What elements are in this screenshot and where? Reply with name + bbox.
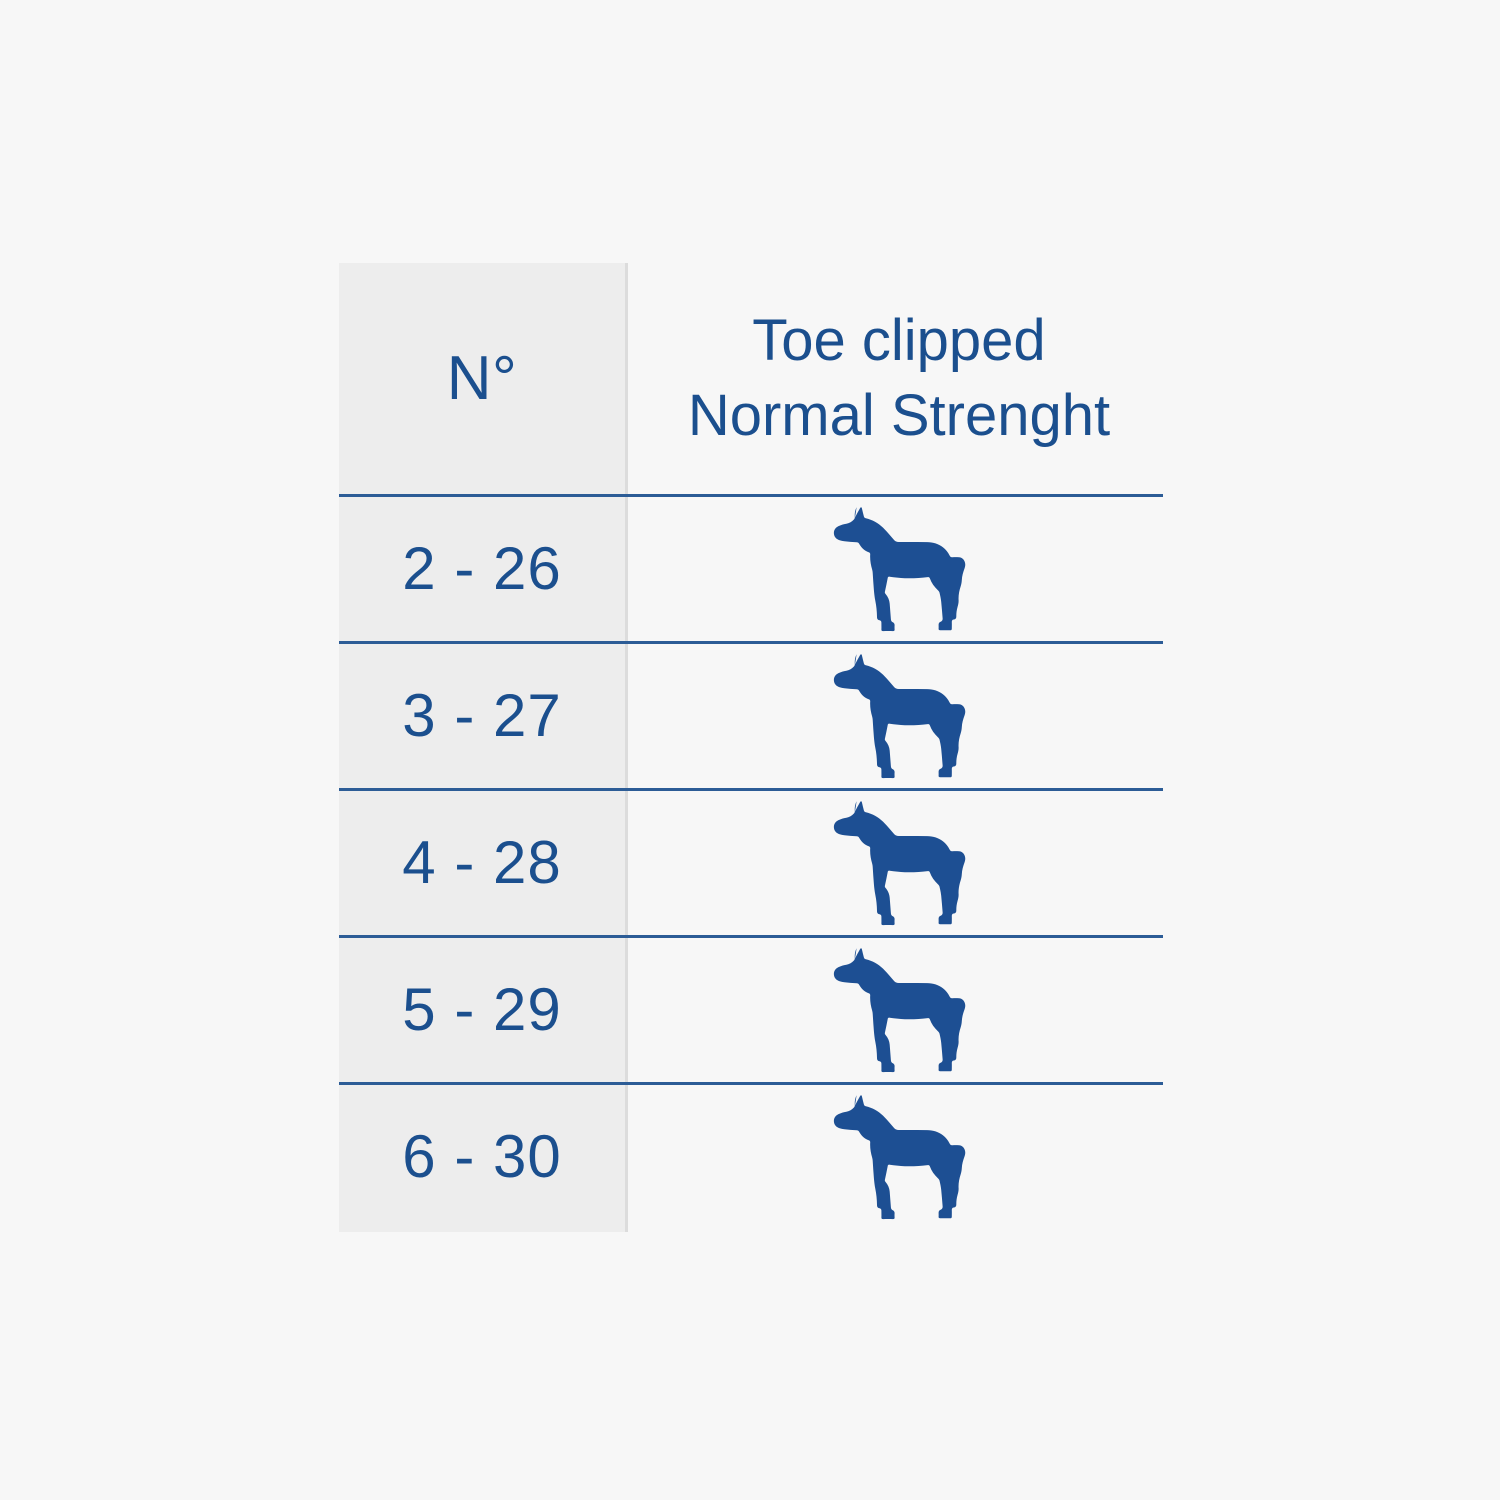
table-header-row: N° Toe clipped Normal Strenght [339, 263, 1163, 494]
row-cell-icon [625, 647, 1163, 785]
horse-silhouette-icon [818, 941, 976, 1079]
table-row: 5 - 29 [339, 938, 1163, 1082]
horse-silhouette-icon [818, 794, 976, 932]
header-cell-product: Toe clipped Normal Strenght [625, 304, 1163, 452]
row-cell-icon [625, 1088, 1163, 1226]
header-product-title: Toe clipped Normal Strenght [678, 304, 1110, 452]
table-row: 4 - 28 [339, 791, 1163, 935]
header-rule [339, 494, 1163, 497]
horse-silhouette-icon [818, 500, 976, 638]
header-number-label: N° [447, 348, 518, 410]
row-cell-icon [625, 794, 1163, 932]
header-product-title-line1: Toe clipped [688, 304, 1110, 378]
horse-silhouette-icon [818, 647, 976, 785]
row-cell-size: 6 - 30 [339, 1127, 625, 1187]
row-cell-size: 4 - 28 [339, 833, 625, 893]
row-cell-size: 5 - 29 [339, 980, 625, 1040]
header-cell-number: N° [339, 348, 625, 410]
header-product-title-line2: Normal Strenght [688, 379, 1110, 453]
row-rule [339, 641, 1163, 644]
size-value: 2 - 26 [402, 539, 561, 599]
row-cell-size: 3 - 27 [339, 686, 625, 746]
row-rule [339, 1082, 1163, 1085]
horse-silhouette-icon [818, 1088, 976, 1226]
horseshoe-size-table: N° Toe clipped Normal Strenght 2 - 26 [339, 263, 1163, 1229]
size-value: 4 - 28 [402, 833, 561, 893]
size-value: 5 - 29 [402, 980, 561, 1040]
table-row: 3 - 27 [339, 644, 1163, 788]
row-rule [339, 935, 1163, 938]
row-cell-icon [625, 941, 1163, 1079]
size-value: 6 - 30 [402, 1127, 561, 1187]
row-cell-size: 2 - 26 [339, 539, 625, 599]
size-value: 3 - 27 [402, 686, 561, 746]
table-row: 2 - 26 [339, 497, 1163, 641]
row-rule [339, 788, 1163, 791]
row-cell-icon [625, 500, 1163, 638]
table-row: 6 - 30 [339, 1085, 1163, 1229]
page-root: N° Toe clipped Normal Strenght 2 - 26 [0, 0, 1500, 1500]
